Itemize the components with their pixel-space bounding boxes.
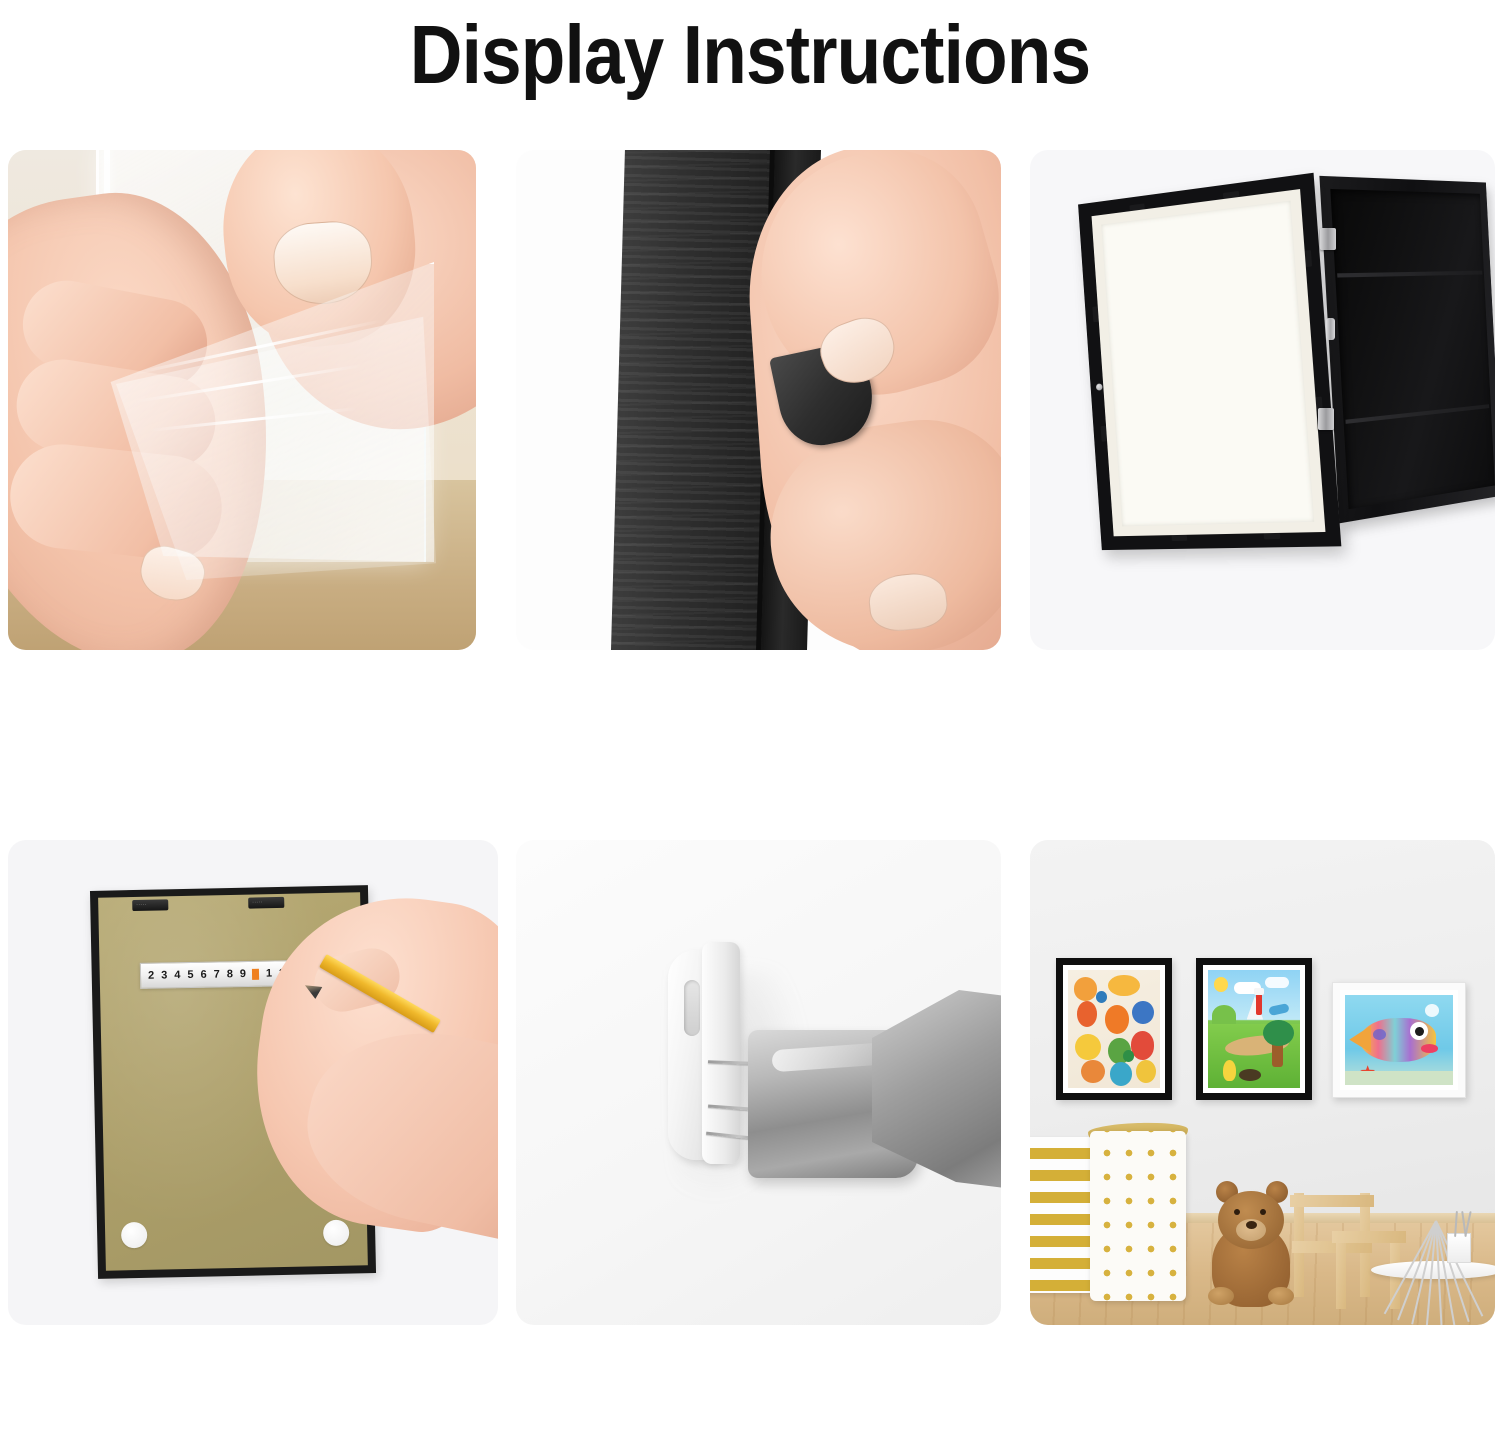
teddy-bear-eye-left: [1234, 1209, 1240, 1215]
wall-hook-face: [702, 942, 740, 1164]
tape-number: 7: [214, 969, 220, 980]
teddy-bear: [1198, 1185, 1302, 1307]
polka-dot-storage-bag: [1090, 1131, 1186, 1301]
frame-3-artwork: [1345, 995, 1453, 1085]
instruction-step-1: 1.Remove the double-sided protective fil…: [8, 150, 476, 650]
wire-side-table-legs: [1379, 1221, 1491, 1325]
tape-number: 9: [240, 969, 246, 980]
chair-backrest-top: [1290, 1195, 1374, 1207]
tape-number: 1: [266, 968, 272, 979]
metal-tab-right-1: [1305, 250, 1312, 267]
frame-2-mat: [1203, 965, 1305, 1093]
tape-orange-marker: [252, 968, 259, 979]
instruction-step-4: ····· ····· 2 3 4 5 6 7 8 9 1: [8, 840, 498, 1330]
step-3-photo: [1030, 150, 1495, 650]
teddy-bear-eye-right: [1260, 1209, 1266, 1215]
step-5-photo: [516, 840, 1001, 1325]
mat-board: [1092, 189, 1326, 536]
display-instructions-page: Display Instructions: [0, 0, 1500, 1438]
tape-number: 5: [187, 969, 193, 980]
tape-number: 4: [174, 970, 180, 981]
mat-window: [1101, 201, 1314, 527]
frame-2-artwork: [1208, 970, 1300, 1088]
tape-number: 2: [148, 970, 154, 981]
instruction-grid: 1.Remove the double-sided protective fil…: [0, 0, 1500, 1438]
wall-hook-slot: [684, 980, 700, 1036]
tape-number: 6: [200, 969, 206, 980]
teddy-bear-paw-left: [1208, 1287, 1234, 1305]
step-2-photo: [516, 150, 1001, 650]
hinge-top: [1320, 228, 1336, 250]
frame-back-half: [1319, 176, 1495, 524]
metal-tab-bottom-2: [1264, 533, 1281, 539]
step-1-photo: [8, 150, 476, 650]
pencil-cup: [1447, 1233, 1471, 1263]
instruction-step-2: 2.Lift the metal tabs with a plastic pad…: [516, 150, 1001, 650]
tape-number: 8: [227, 969, 233, 980]
instruction-step-3: 3.First put the acrylic sheet, then put …: [1030, 150, 1495, 650]
step-6-photo: [1030, 840, 1495, 1325]
teddy-bear-nose: [1246, 1221, 1257, 1229]
frame-1-mat: [1063, 965, 1165, 1093]
tape-number: 3: [161, 970, 167, 981]
metal-tab-left-1: [1092, 306, 1098, 322]
hinge-middle: [1326, 318, 1335, 340]
frame-1-artwork: [1068, 970, 1160, 1088]
hung-frame-3: [1332, 982, 1466, 1098]
step-4-photo: ····· ····· 2 3 4 5 6 7 8 9 1: [8, 840, 498, 1325]
hanging-clip-right: ·····: [248, 897, 284, 909]
hung-frame-1: [1056, 958, 1172, 1100]
instruction-step-5: 5.Find the location of the hook on the w…: [516, 840, 1001, 1330]
metal-tab-left-2: [1101, 426, 1108, 442]
instruction-step-6: 6.Finish hanging pictures & you can disp…: [1030, 840, 1495, 1330]
frame-front-half: [1078, 173, 1341, 550]
clip-text: ·····: [252, 899, 262, 905]
hinge-bottom: [1318, 408, 1334, 430]
teddy-bear-paw-right: [1268, 1287, 1294, 1305]
metal-tab-bottom-1: [1171, 535, 1187, 541]
frame-screw: [1096, 383, 1103, 390]
clip-text: ·····: [136, 902, 146, 908]
hanging-clip-left: ·····: [132, 899, 168, 911]
frame-3-mat: [1340, 990, 1458, 1090]
frame-back-cavity: [1330, 189, 1495, 509]
hung-frame-2: [1196, 958, 1312, 1100]
